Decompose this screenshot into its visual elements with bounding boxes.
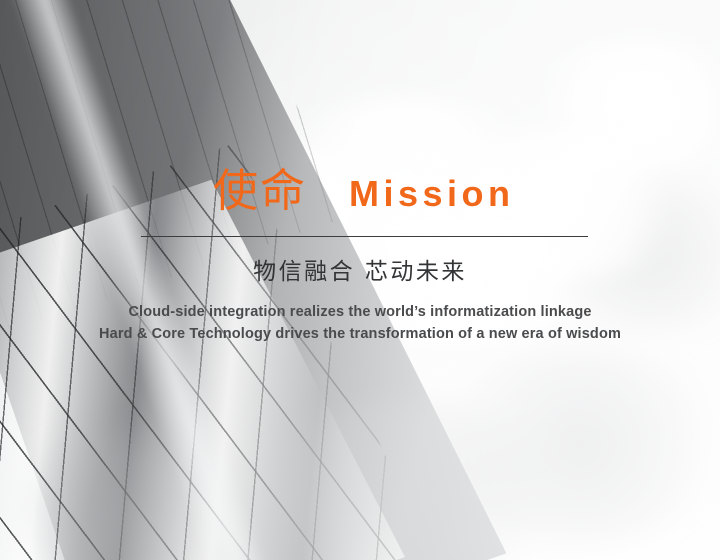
body-text: Cloud-side integration realizes the worl…	[0, 301, 720, 345]
page-title: 使命 Mission	[213, 168, 515, 213]
subtitle-chinese: 物信融合 芯动未来	[0, 259, 720, 287]
title-divider	[141, 236, 588, 237]
body-line-1: Cloud-side integration realizes the worl…	[0, 301, 720, 323]
title-chinese: 使命	[213, 168, 307, 213]
slide-content: 使命 Mission 物信融合 芯动未来 Cloud-side integrat…	[0, 0, 720, 560]
mission-slide: 使命 Mission 物信融合 芯动未来 Cloud-side integrat…	[0, 0, 720, 560]
body-line-2: Hard & Core Technology drives the transf…	[0, 323, 720, 345]
title-english: Mission	[349, 176, 515, 212]
